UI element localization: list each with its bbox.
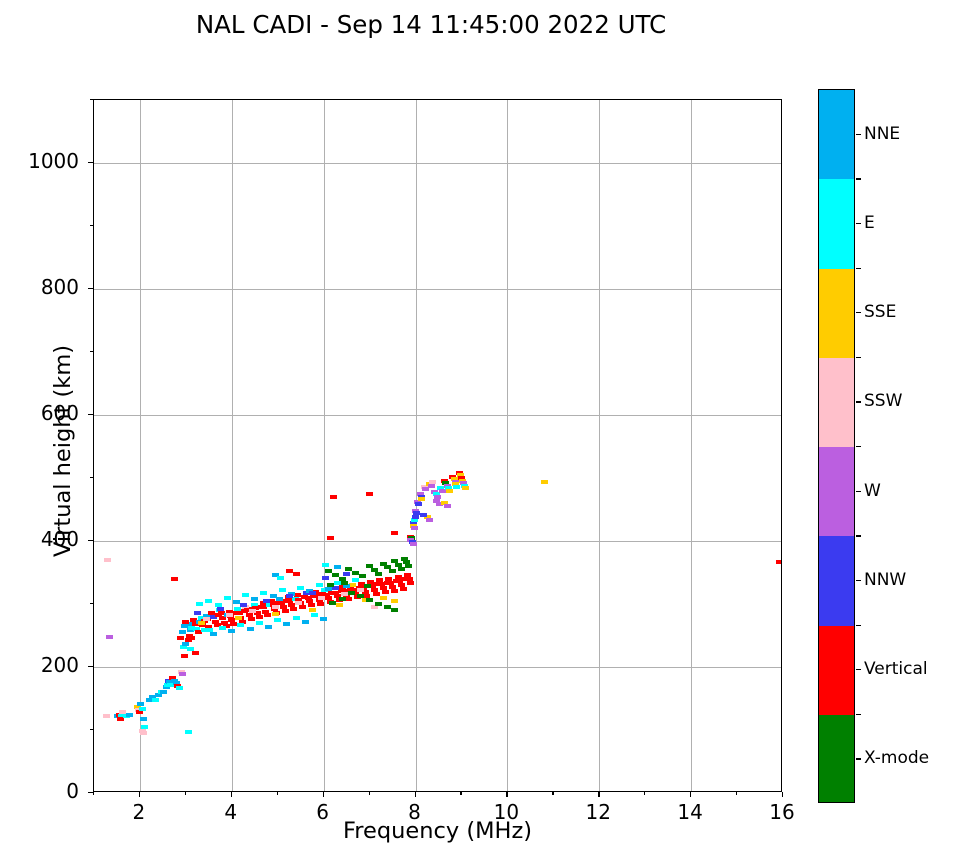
echo-point (276, 597, 283, 601)
colorbar-label-nne: NNE (864, 124, 900, 144)
y-tick-label: 0 (9, 779, 79, 803)
y-tick-minor (90, 729, 93, 730)
echo-point (237, 623, 244, 627)
echo-point (104, 558, 111, 562)
colorbar-segment-nne (819, 90, 854, 179)
echo-point (201, 628, 208, 632)
echo-point (302, 620, 309, 624)
colorbar-tick (856, 758, 861, 759)
echo-point (446, 489, 453, 493)
x-tick-minor (185, 792, 186, 795)
y-tick-minor (90, 351, 93, 352)
y-tick-mark (88, 288, 93, 289)
echo-point (453, 485, 460, 489)
echo-point (182, 620, 189, 624)
echo-point (357, 594, 364, 598)
echo-point (391, 589, 398, 593)
echo-point (179, 630, 186, 634)
echo-point (363, 594, 370, 598)
echo-point (235, 616, 242, 620)
echo-point (343, 584, 350, 588)
echo-point (295, 601, 302, 605)
echo-point (327, 536, 334, 540)
echo-point (240, 603, 247, 607)
colorbar-tick (856, 401, 861, 402)
echo-point (418, 497, 425, 501)
colorbar-boundary-tick (856, 178, 861, 179)
x-tick-mark (598, 792, 599, 797)
echo-point (265, 625, 272, 629)
echo-point (395, 575, 402, 579)
echo-point (345, 597, 352, 601)
echo-point (179, 672, 186, 676)
plot-axes (93, 99, 782, 792)
echo-point (106, 635, 113, 639)
echo-point (198, 621, 205, 625)
echo-point (391, 599, 398, 603)
colorbar-label-x-mode: X-mode (864, 748, 929, 768)
echo-point (224, 596, 231, 600)
echo-point (404, 573, 411, 577)
colorbar-tick (856, 223, 861, 224)
echo-point (309, 591, 316, 595)
echo-point (322, 576, 329, 580)
echo-point (413, 511, 420, 515)
echo-point (348, 591, 355, 595)
echo-point (272, 612, 279, 616)
x-tick-mark (415, 792, 416, 797)
echo-point (286, 569, 293, 573)
echo-point (320, 617, 327, 621)
colorbar-segment-x-mode (819, 715, 854, 803)
x-tick-minor (277, 792, 278, 795)
echo-point (140, 731, 147, 735)
echo-point (341, 581, 348, 585)
y-tick-label: 1000 (9, 149, 79, 173)
colorbar-tick (856, 491, 861, 492)
echo-point (462, 486, 469, 490)
colorbar-boundary-tick (856, 357, 861, 358)
echo-point (329, 601, 336, 605)
y-tick-minor (90, 603, 93, 604)
echo-point (415, 502, 422, 506)
echo-point (279, 588, 286, 592)
colorbar-segment-nnw (819, 536, 854, 625)
echo-point (336, 603, 343, 607)
echo-point (339, 597, 346, 601)
echo-point (357, 588, 364, 592)
echo-point (270, 594, 277, 598)
page-title: NAL CADI - Sep 14 11:45:00 2022 UTC (0, 10, 862, 39)
y-tick-minor (90, 477, 93, 478)
x-tick-mark (323, 792, 324, 797)
echo-point (283, 622, 290, 626)
echo-point (192, 651, 199, 655)
echo-point (185, 730, 192, 734)
y-tick-minor (90, 225, 93, 226)
echo-point (126, 713, 133, 717)
echo-point (242, 593, 249, 597)
x-axis-label: Frequency (MHz) (93, 818, 782, 844)
echo-point (181, 624, 188, 628)
y-tick-label: 200 (9, 653, 79, 677)
echo-point (400, 587, 407, 591)
echo-point (194, 611, 201, 615)
echo-point (352, 578, 359, 582)
y-tick-minor (90, 99, 93, 100)
echo-point (366, 492, 373, 496)
echo-point (429, 480, 436, 484)
echo-point (375, 572, 382, 576)
echo-point (160, 690, 167, 694)
echo-point (177, 636, 184, 640)
echo-point (228, 629, 235, 633)
echo-point (188, 636, 195, 640)
echo-point (286, 594, 293, 598)
colorbar-label-ssw: SSW (864, 391, 902, 411)
echo-point (343, 572, 350, 576)
echo-point (385, 577, 392, 581)
echo-point (309, 608, 316, 612)
colorbar-boundary-tick (856, 446, 861, 447)
echo-point (140, 717, 147, 721)
echo-point (334, 565, 341, 569)
echo-point (299, 605, 306, 609)
x-tick-minor (552, 792, 553, 795)
echo-point (359, 574, 366, 578)
scatter-data-layer (94, 100, 781, 791)
echo-point (181, 654, 188, 658)
echo-point (256, 615, 263, 619)
echo-point (308, 603, 315, 607)
colorbar-segment-w (819, 447, 854, 536)
echo-point (375, 602, 382, 606)
y-axis-label: Virtual height (km) (50, 261, 76, 641)
echo-point (444, 504, 451, 508)
x-tick-minor (460, 792, 461, 795)
colorbar-segment-e (819, 179, 854, 268)
echo-point (389, 569, 396, 573)
echo-point (171, 577, 178, 581)
echo-point (226, 613, 233, 617)
colorbar-segment-sse (819, 269, 854, 358)
echo-point (272, 605, 279, 609)
echo-point (318, 596, 325, 600)
echo-point (376, 578, 383, 582)
echo-point (297, 586, 304, 590)
echo-point (293, 572, 300, 576)
x-tick-mark (782, 792, 783, 797)
echo-point (317, 602, 324, 606)
echo-point (322, 563, 329, 567)
colorbar-label-e: E (864, 213, 875, 233)
colorbar-label-sse: SSE (864, 302, 896, 322)
echo-point (103, 714, 110, 718)
y-tick-mark (88, 162, 93, 163)
echo-point (367, 580, 374, 584)
echo-point (428, 484, 435, 488)
colorbar-label-w: W (864, 481, 881, 501)
colorbar (818, 89, 855, 803)
echo-point (380, 596, 387, 600)
echo-point (541, 480, 548, 484)
colorbar-segment-vertical (819, 626, 854, 715)
y-tick-mark (88, 540, 93, 541)
echo-point (420, 513, 427, 517)
echo-point (776, 560, 781, 564)
echo-point (246, 613, 253, 617)
echo-point (247, 627, 254, 631)
colorbar-tick (856, 312, 861, 313)
echo-point (410, 542, 417, 546)
y-tick-mark (88, 792, 93, 793)
echo-point (405, 564, 412, 568)
ionogram-figure: NAL CADI - Sep 14 11:45:00 2022 UTC 2468… (0, 0, 958, 857)
x-tick-mark (506, 792, 507, 797)
echo-point (176, 686, 183, 690)
x-tick-minor (93, 792, 94, 795)
echo-point (366, 598, 373, 602)
echo-point (391, 531, 398, 535)
colorbar-tick (856, 669, 861, 670)
echo-point (152, 698, 159, 702)
echo-point (182, 642, 189, 646)
colorbar-boundary-tick (856, 268, 861, 269)
echo-point (264, 613, 271, 617)
echo-point (391, 608, 398, 612)
x-tick-minor (369, 792, 370, 795)
colorbar-label-nnw: NNW (864, 570, 906, 590)
echo-point (249, 609, 256, 613)
echo-point (196, 602, 203, 606)
echo-point (205, 599, 212, 603)
echo-point (248, 617, 255, 621)
colorbar-tick (856, 580, 861, 581)
echo-point (274, 618, 281, 622)
echo-point (234, 607, 241, 611)
echo-point (311, 613, 318, 617)
echo-point (330, 495, 337, 499)
echo-point (260, 591, 267, 595)
echo-point (219, 626, 226, 630)
x-tick-mark (690, 792, 691, 797)
echo-point (263, 599, 270, 603)
echo-point (210, 632, 217, 636)
echo-point (251, 597, 258, 601)
y-tick-mark (88, 666, 93, 667)
echo-point (256, 621, 263, 625)
colorbar-boundary-tick (856, 535, 861, 536)
colorbar-boundary-tick (856, 625, 861, 626)
colorbar-tick (856, 134, 861, 135)
echo-point (316, 583, 323, 587)
x-tick-minor (644, 792, 645, 795)
echo-point (230, 622, 237, 626)
echo-point (412, 515, 419, 519)
echo-point (277, 576, 284, 580)
colorbar-boundary-tick (856, 714, 861, 715)
colorbar-label-vertical: Vertical (864, 659, 928, 679)
echo-point (327, 583, 334, 587)
echo-point (282, 609, 289, 613)
echo-point (411, 526, 418, 530)
echo-point (407, 581, 414, 585)
echo-point (290, 607, 297, 611)
echo-point (139, 707, 146, 711)
x-tick-minor (736, 792, 737, 795)
echo-point (373, 592, 380, 596)
echo-point (382, 590, 389, 594)
colorbar-segment-ssw (819, 358, 854, 447)
x-tick-mark (139, 792, 140, 797)
x-tick-mark (231, 792, 232, 797)
echo-point (364, 584, 371, 588)
echo-point (426, 518, 433, 522)
y-tick-mark (88, 414, 93, 415)
echo-point (293, 616, 300, 620)
echo-point (137, 702, 144, 706)
echo-point (217, 607, 224, 611)
echo-point (384, 605, 391, 609)
